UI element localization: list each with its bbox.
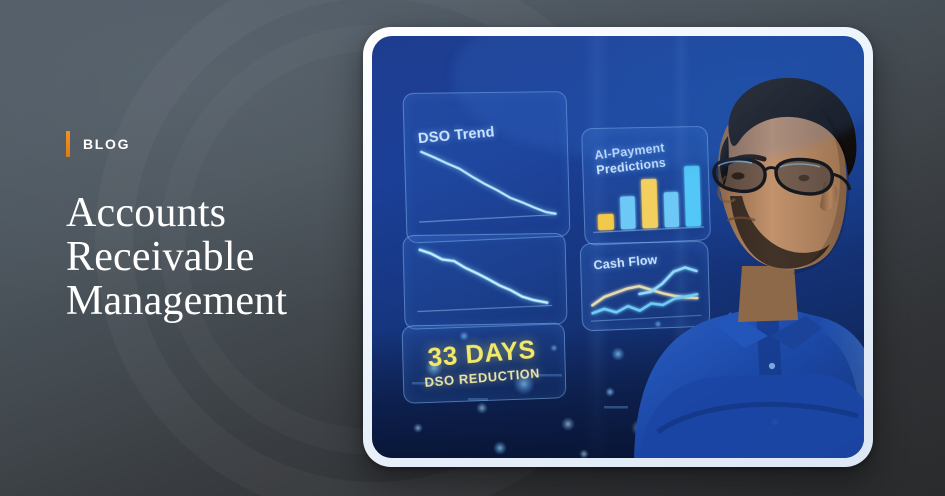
card-scene: DSO Trend AI-Payment Predictions bbox=[372, 36, 864, 458]
blog-kicker: BLOG bbox=[66, 130, 366, 158]
headline-block: BLOG Accounts Receivable Management bbox=[66, 130, 366, 323]
card-sheen bbox=[372, 36, 864, 458]
title-line-2: Receivable bbox=[66, 235, 366, 279]
title-line-1: Accounts bbox=[66, 191, 366, 235]
kicker-label: BLOG bbox=[83, 136, 130, 152]
kicker-accent-bar bbox=[66, 131, 70, 157]
title-line-3: Management bbox=[66, 279, 366, 323]
hero-image-card: DSO Trend AI-Payment Predictions bbox=[363, 27, 873, 467]
poster-canvas: BLOG Accounts Receivable Management bbox=[0, 0, 945, 496]
page-title: Accounts Receivable Management bbox=[66, 191, 366, 323]
